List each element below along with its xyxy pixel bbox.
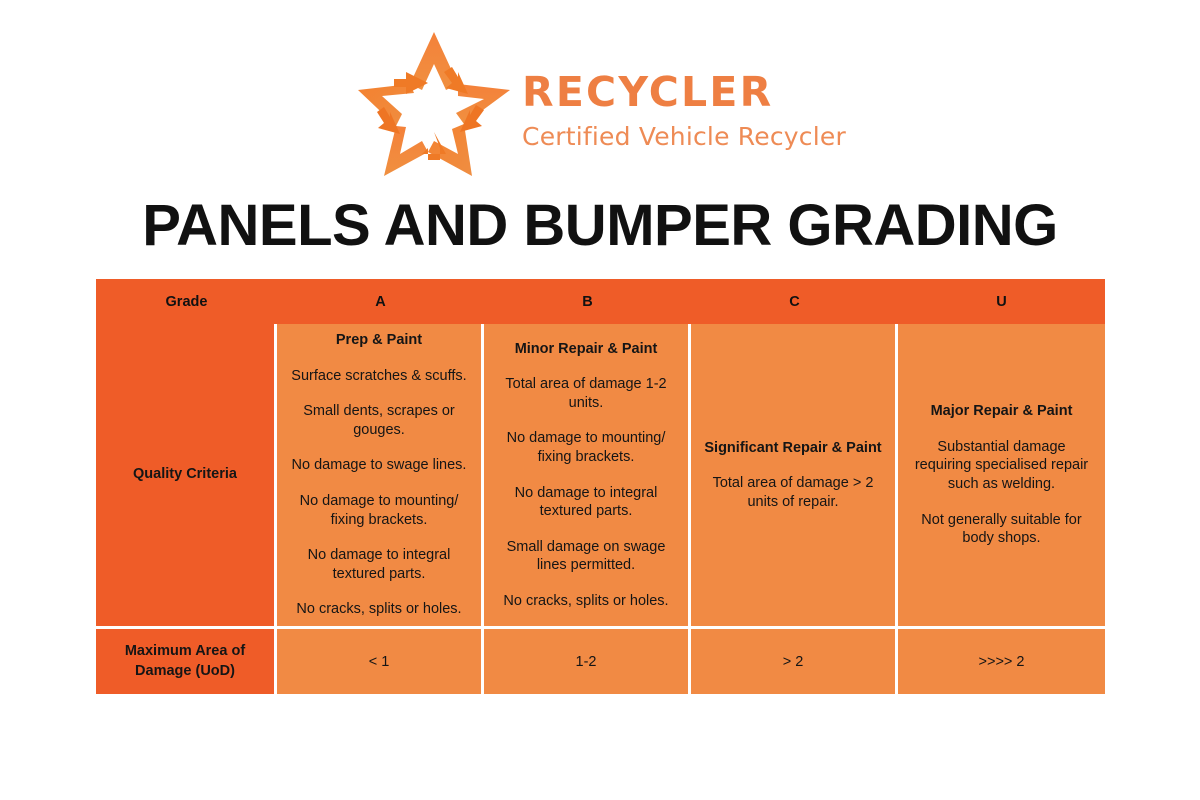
cell-a-item-2: No damage to swage lines.	[287, 456, 471, 475]
row-label-quality-criteria: Quality Criteria	[96, 324, 277, 629]
cell-b-item-0: Total area of damage 1-2 units.	[494, 375, 678, 412]
header-cell-u: U	[898, 279, 1105, 324]
row-label-max-area-of-damage: Maximum Area of Damage (UoD)	[96, 629, 277, 694]
cell-c-lead: Significant Repair & Paint	[701, 439, 885, 458]
table-header-row: Grade A B C U	[96, 279, 1105, 324]
cell-max-area-u: >>>> 2	[898, 629, 1105, 694]
cell-a-item-4: No damage to integral textured parts.	[287, 546, 471, 583]
header-cell-b: B	[484, 279, 691, 324]
cell-u-lead: Major Repair & Paint	[908, 402, 1095, 421]
cell-a-item-0: Surface scratches & scuffs.	[287, 367, 471, 386]
table-row-max-area-of-damage: Maximum Area of Damage (UoD) < 1 1-2 > 2…	[96, 629, 1105, 694]
cell-max-area-c: > 2	[691, 629, 898, 694]
cell-u-item-0: Substantial damage requiring specialised…	[908, 438, 1095, 494]
cell-a-lead: Prep & Paint	[287, 331, 471, 350]
grading-poster: RECYCLER Certified Vehicle Recycler PANE…	[0, 0, 1200, 800]
cell-b-item-1: No damage to mounting/ fixing brackets.	[494, 429, 678, 466]
header-cell-c: C	[691, 279, 898, 324]
cell-max-area-b: 1-2	[484, 629, 691, 694]
recycling-star-logo-icon	[354, 28, 514, 180]
header-cell-a: A	[277, 279, 484, 324]
cell-b-item-2: No damage to integral textured parts.	[494, 484, 678, 521]
cell-quality-criteria-c: Significant Repair & Paint Total area of…	[691, 324, 898, 629]
cell-a-item-5: No cracks, splits or holes.	[287, 600, 471, 619]
cell-a-item-3: No damage to mounting/ fixing brackets.	[287, 492, 471, 529]
panels-bumper-grading-table: Grade A B C U Quality Criteria Prep & Pa…	[96, 279, 1105, 694]
cell-quality-criteria-u: Major Repair & Paint Substantial damage …	[898, 324, 1105, 629]
logo-wordmark: RECYCLER Certified Vehicle Recycler	[522, 58, 846, 149]
header-cell-grade: Grade	[96, 279, 277, 324]
cell-b-item-3: Small damage on swage lines permitted.	[494, 538, 678, 575]
table-row-quality-criteria: Quality Criteria Prep & Paint Surface sc…	[96, 324, 1105, 629]
cell-b-lead: Minor Repair & Paint	[494, 340, 678, 359]
cell-quality-criteria-a: Prep & Paint Surface scratches & scuffs.…	[277, 324, 484, 629]
brand-tagline: Certified Vehicle Recycler	[522, 124, 846, 149]
cell-max-area-a: < 1	[277, 629, 484, 694]
cell-c-item-0: Total area of damage > 2 units of repair…	[701, 474, 885, 511]
page-title: PANELS AND BUMPER GRADING	[0, 192, 1200, 259]
brand-name: RECYCLER	[522, 72, 846, 113]
cell-a-item-1: Small dents, scrapes or gouges.	[287, 402, 471, 439]
cell-b-item-4: No cracks, splits or holes.	[494, 592, 678, 611]
brand-logo: RECYCLER Certified Vehicle Recycler	[0, 26, 1200, 181]
cell-quality-criteria-b: Minor Repair & Paint Total area of damag…	[484, 324, 691, 629]
cell-u-item-1: Not generally suitable for body shops.	[908, 511, 1095, 548]
